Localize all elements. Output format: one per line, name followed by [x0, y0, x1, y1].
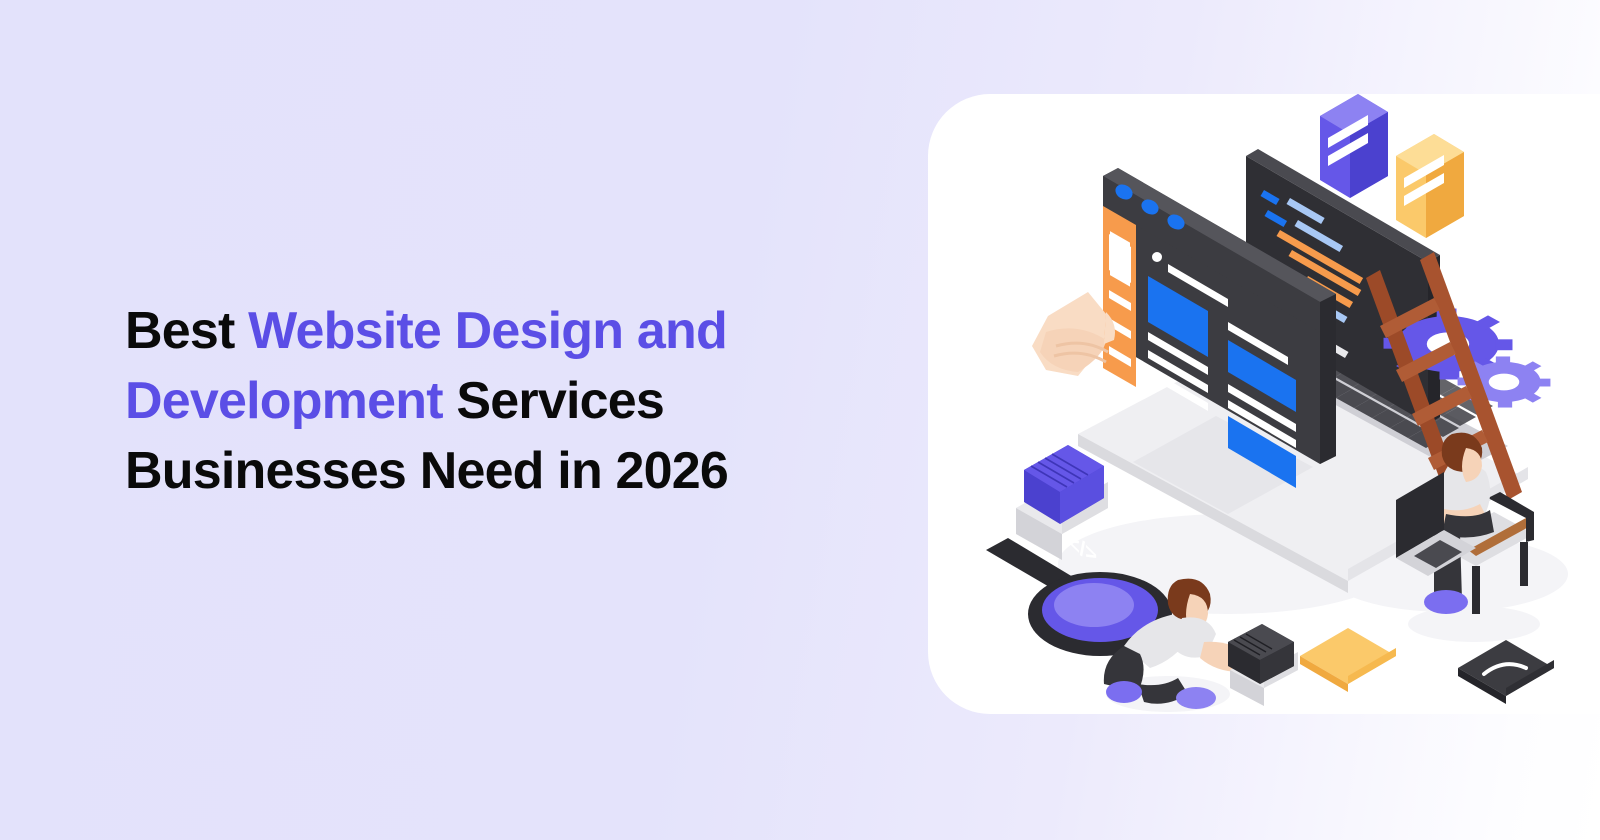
dark-arc-tile — [1458, 640, 1554, 704]
purple-book-stack: </> — [1016, 445, 1108, 569]
isometric-illustration: </> — [928, 94, 1600, 714]
yellow-card — [1396, 134, 1464, 238]
purple-card — [1320, 94, 1388, 198]
hand — [1032, 292, 1115, 376]
hero-banner: Best Website Design and Development Serv… — [0, 0, 1600, 840]
yellow-code-tile: </> — [1300, 628, 1396, 714]
headline-segment-1: Best — [125, 302, 248, 360]
illustration-card: </> — [928, 94, 1600, 714]
page-title: Best Website Design and Development Serv… — [125, 296, 825, 506]
